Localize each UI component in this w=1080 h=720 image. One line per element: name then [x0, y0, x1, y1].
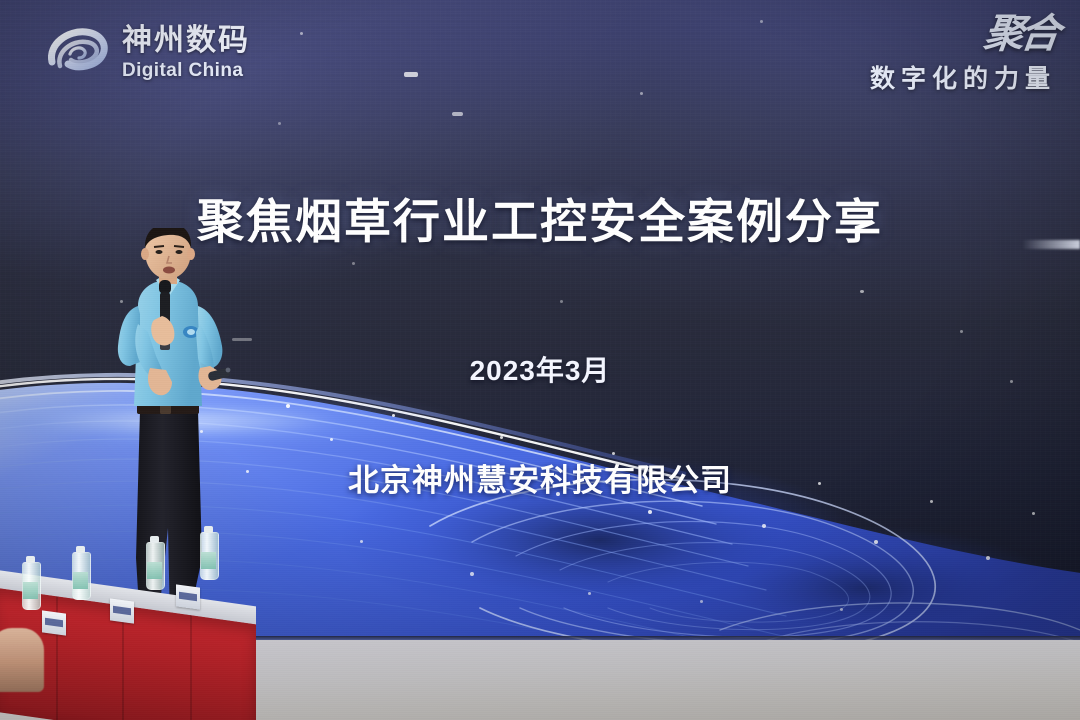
name-tent-card	[110, 598, 134, 623]
name-tent-card	[176, 584, 200, 609]
water-bottle	[22, 562, 41, 610]
seated-attendee	[0, 628, 44, 692]
water-bottle	[200, 532, 219, 580]
water-bottle	[72, 552, 91, 600]
head-table	[0, 548, 262, 720]
name-tent-card	[42, 610, 66, 635]
water-bottle	[146, 542, 165, 590]
conference-stage-photo: 神州数码 Digital China 聚合 数字化的力量 聚焦烟草行业工控安全案…	[0, 0, 1080, 720]
